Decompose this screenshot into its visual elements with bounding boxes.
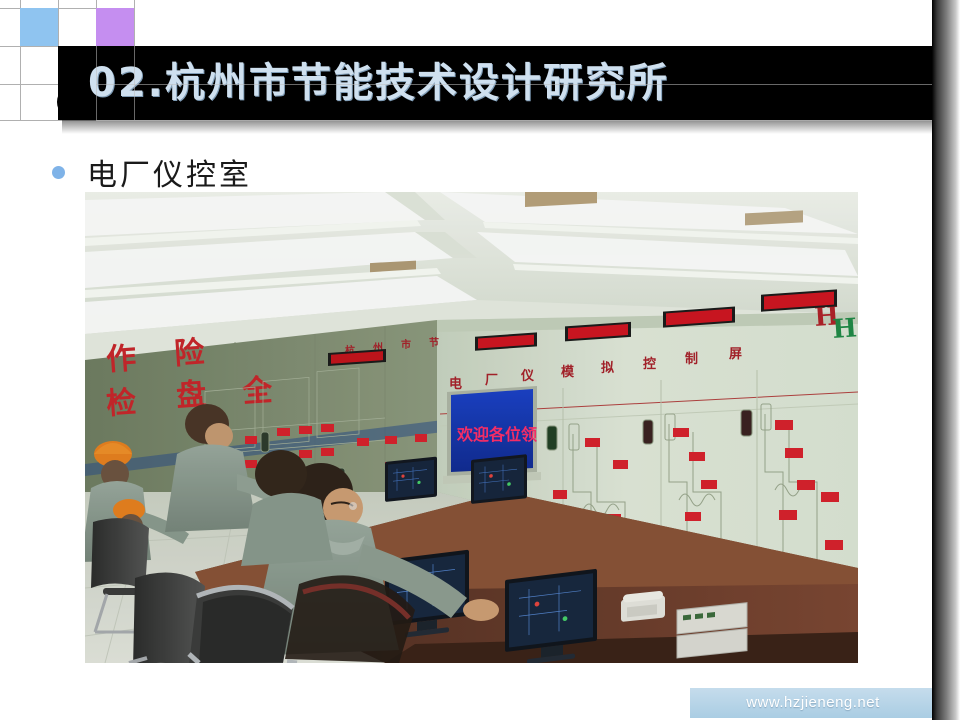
control-room-photo: 作 险 检 盘 全 电厂 仪模 拟控 制屏 — [85, 192, 858, 663]
grid-line-horizontal-overlay — [96, 120, 938, 121]
grid-line-vertical — [134, 0, 135, 46]
decor-square-purple — [96, 8, 134, 46]
grid-line-vertical-overlay — [134, 46, 135, 120]
bullet-dot-icon — [52, 166, 65, 179]
bullet-label: 电厂仪控室 — [87, 150, 252, 194]
slide-canvas: 02.杭州市节能技术设计研究所 电厂仪控室 — [0, 0, 960, 720]
decor-square-blue — [20, 8, 58, 46]
footer-url[interactable]: www.hzjieneng.net — [690, 688, 936, 718]
grid-line-vertical-overlay — [96, 46, 97, 120]
control-room-illustration: 作 险 检 盘 全 电厂 仪模 拟控 制屏 — [85, 192, 858, 663]
grid-line-horizontal-overlay — [96, 84, 938, 85]
title-bar-shadow — [62, 120, 942, 134]
page-title: 02.杭州市节能技术设计研究所 — [88, 46, 938, 120]
right-edge-gradient — [932, 0, 960, 720]
footer-bar: www.hzjieneng.net — [690, 688, 936, 718]
bullet-row: 电厂仪控室 — [52, 150, 252, 194]
